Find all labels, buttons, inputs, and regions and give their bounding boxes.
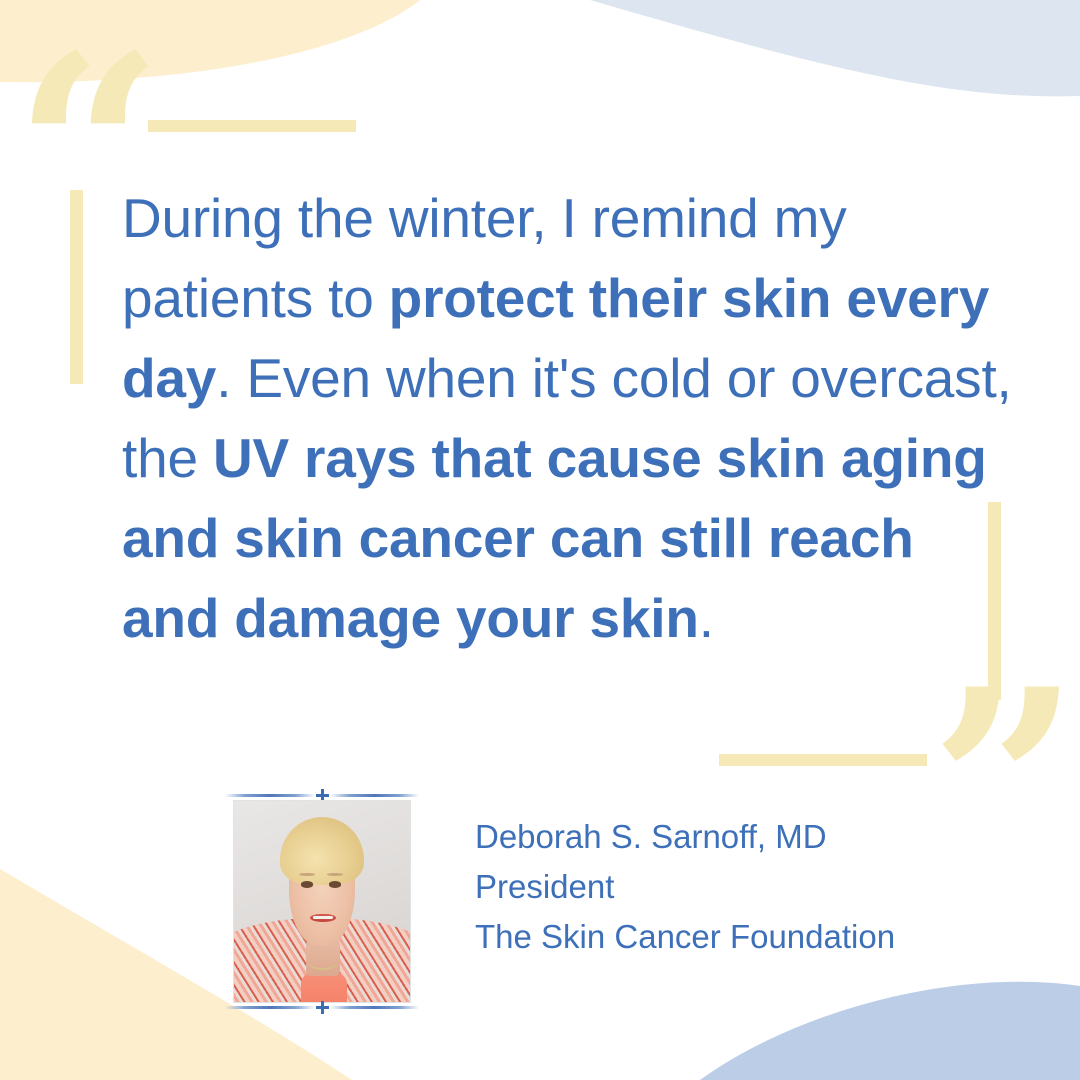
close-quote-icon: ” bbox=[930, 656, 1080, 916]
portrait-teeth bbox=[313, 916, 332, 920]
portrait-necklace bbox=[308, 954, 338, 970]
portrait-photo[interactable] bbox=[233, 800, 411, 1003]
quote-segment-4: . bbox=[699, 587, 714, 649]
selection-line-bottom-right bbox=[330, 1006, 420, 1009]
attribution-name: Deborah S. Sarnoff, MD bbox=[475, 812, 895, 862]
attribution-block: Deborah S. Sarnoff, MD President The Ski… bbox=[475, 812, 895, 962]
attribution-title: President bbox=[475, 862, 895, 912]
horizontal-accent-bar-bottom bbox=[719, 754, 927, 766]
portrait-eye-right bbox=[329, 881, 341, 887]
selection-line-bottom-left bbox=[225, 1006, 315, 1009]
quote-text: During the winter, I remind my patients … bbox=[122, 178, 1012, 658]
selection-handle-top[interactable] bbox=[225, 791, 419, 800]
quote-graphic-canvas: “ ” During the winter, I remind my patie… bbox=[0, 0, 1080, 1080]
horizontal-accent-bar-top bbox=[148, 120, 356, 132]
portrait-eye-left bbox=[301, 881, 313, 887]
portrait-photo-frame bbox=[233, 800, 411, 1003]
move-crosshair-icon-bottom[interactable] bbox=[316, 1001, 329, 1014]
blue-blob-bottom-right bbox=[700, 982, 1080, 1080]
selection-line-top-left bbox=[225, 794, 315, 797]
selection-line-top-right bbox=[330, 794, 420, 797]
attribution-organization: The Skin Cancer Foundation bbox=[475, 912, 895, 962]
selection-handle-bottom[interactable] bbox=[225, 1003, 419, 1012]
quote-segment-3: UV rays that cause skin aging and skin c… bbox=[122, 427, 987, 649]
blue-blob-top-right bbox=[590, 0, 1080, 96]
